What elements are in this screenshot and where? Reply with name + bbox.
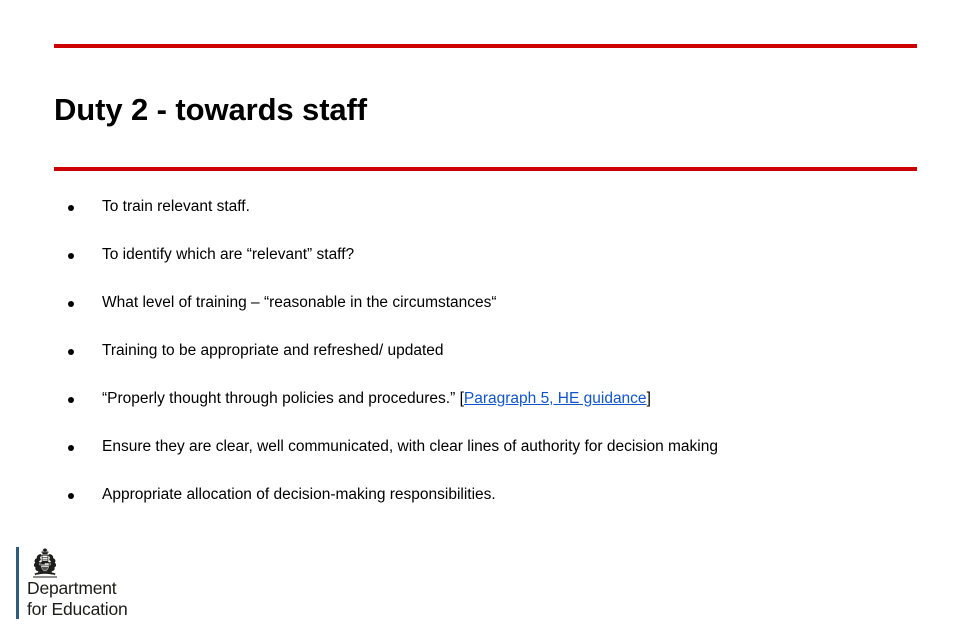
paragraph-5-he-guidance-link[interactable]: Paragraph 5, HE guidance: [464, 390, 647, 407]
list-item: To identify which are “relevant” staff?: [54, 244, 924, 266]
slide-canvas: Duty 2 - towards staff To train relevant…: [0, 0, 960, 640]
bullet-dot-icon: [68, 445, 74, 451]
list-item: Training to be appropriate and refreshed…: [54, 340, 924, 362]
bullet-list: To train relevant staff. To identify whi…: [54, 196, 924, 506]
list-item-label: To identify which are “relevant” staff?: [102, 246, 354, 263]
list-item: To train relevant staff.: [54, 196, 924, 218]
logo-vertical-rule: [16, 547, 19, 619]
title-rule-top: [54, 44, 917, 48]
bullet-dot-icon: [68, 397, 74, 403]
royal-coat-of-arms-icon: [28, 547, 62, 579]
logo-line-2: for Education: [27, 599, 128, 620]
logo-line-1: Department: [27, 578, 128, 599]
list-item-with-link: “Properly thought through policies and p…: [54, 388, 924, 410]
department-for-education-logo: Department for Education: [16, 547, 186, 621]
list-item: Appropriate allocation of decision-makin…: [54, 484, 924, 506]
list-item: What level of training – “reasonable in …: [54, 292, 924, 314]
bullet-dot-icon: [68, 301, 74, 307]
bullet-dot-icon: [68, 253, 74, 259]
quote-prefix: “Properly thought through policies and p…: [102, 390, 464, 407]
list-item-label: Ensure they are clear, well communicated…: [102, 438, 718, 455]
bullet-dot-icon: [68, 205, 74, 211]
page-title: Duty 2 - towards staff: [54, 91, 904, 129]
bracket-suffix: ]: [647, 390, 651, 407]
list-item-label: Appropriate allocation of decision-makin…: [102, 486, 496, 503]
list-item-label: “Properly thought through policies and p…: [102, 390, 651, 407]
logo-wordmark: Department for Education: [27, 578, 128, 620]
list-item-label: What level of training – “reasonable in …: [102, 294, 497, 311]
title-rule-bottom: [54, 167, 917, 171]
list-item-label: To train relevant staff.: [102, 198, 250, 215]
list-item-label: Training to be appropriate and refreshed…: [102, 342, 444, 359]
list-item: Ensure they are clear, well communicated…: [54, 436, 924, 458]
bullet-dot-icon: [68, 349, 74, 355]
bullet-dot-icon: [68, 493, 74, 499]
